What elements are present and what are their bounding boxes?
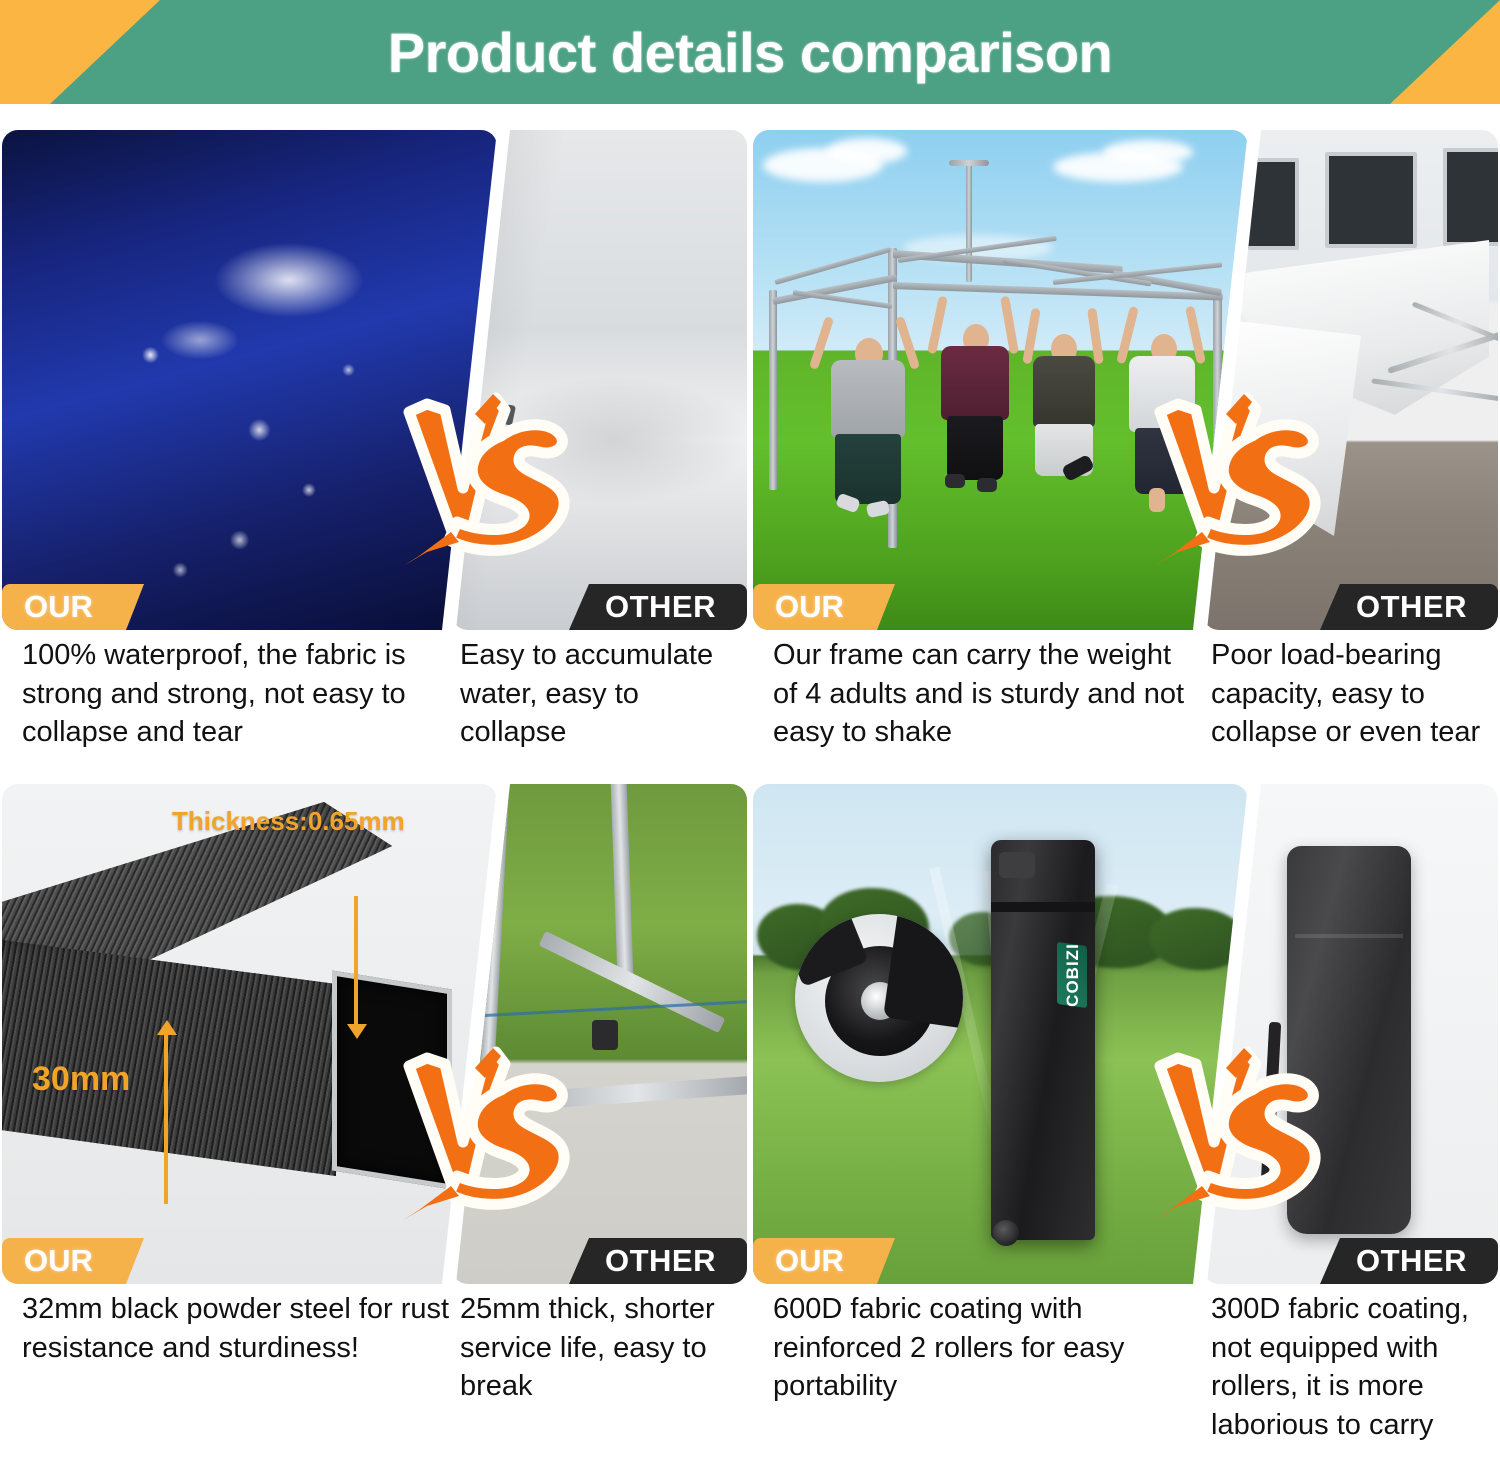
- page-header: Product details comparison: [0, 0, 1500, 104]
- wheel-detail-inset: [795, 914, 963, 1082]
- image-pair: Thickness:0.65mm 30mm OUR OTHER: [2, 784, 747, 1284]
- image-pair: OUR OTHER: [753, 130, 1498, 630]
- our-image-waterproof: OUR: [2, 130, 497, 630]
- our-badge: OUR: [2, 1238, 144, 1284]
- other-image-collapsed-canopy: OTHER: [1203, 130, 1498, 630]
- other-caption: 300D fabric coating, not equipped with r…: [1211, 1290, 1500, 1444]
- our-caption: 32mm black powder steel for rust resista…: [22, 1290, 452, 1367]
- image-pair: OUR OTHER: [2, 130, 747, 630]
- image-pair: COBIZI OUR OTHER: [753, 784, 1498, 1284]
- page-title: Product details comparison: [0, 0, 1500, 104]
- other-caption: 25mm thick, shorter service life, easy t…: [460, 1290, 750, 1406]
- captions: 100% waterproof, the fabric is strong an…: [2, 636, 747, 802]
- captions: Our frame can carry the weight of 4 adul…: [753, 636, 1498, 802]
- other-caption: Easy to accumulate water, easy to collap…: [460, 636, 750, 752]
- other-image-thin-pole: OTHER: [452, 784, 747, 1284]
- brand-logo: COBIZI: [1058, 935, 1088, 1015]
- our-image-steel-tube: Thickness:0.65mm 30mm OUR: [2, 784, 497, 1284]
- panel-steel-tube: Thickness:0.65mm 30mm OUR OTHER: [2, 784, 747, 1456]
- other-image-plain-bag: OTHER: [1203, 784, 1498, 1284]
- comparison-grid: OUR OTHER 100%: [0, 104, 1500, 1475]
- our-image-rolling-bag: COBIZI OUR: [753, 784, 1248, 1284]
- panel-carry-bag: COBIZI OUR OTHER: [753, 784, 1498, 1456]
- our-caption: Our frame can carry the weight of 4 adul…: [773, 636, 1203, 752]
- other-badge: OTHER: [1320, 1238, 1498, 1284]
- our-badge: OUR: [2, 584, 144, 630]
- other-badge: OTHER: [569, 1238, 747, 1284]
- captions: 32mm black powder steel for rust resista…: [2, 1290, 747, 1456]
- other-badge: OTHER: [569, 584, 747, 630]
- panel-waterproof: OUR OTHER 100%: [2, 130, 747, 802]
- width-annotation: 30mm: [32, 1060, 130, 1099]
- our-caption: 100% waterproof, the fabric is strong an…: [22, 636, 452, 752]
- our-badge: OUR: [753, 1238, 895, 1284]
- other-image-pooled-water: OTHER: [452, 130, 747, 630]
- other-badge: OTHER: [1320, 584, 1498, 630]
- thickness-annotation: Thickness:0.65mm: [172, 806, 405, 837]
- other-caption: Poor load-bearing capacity, easy to coll…: [1211, 636, 1500, 752]
- panel-load-bearing: OUR OTHER: [753, 130, 1498, 802]
- our-badge: OUR: [753, 584, 895, 630]
- captions: 600D fabric coating with reinforced 2 ro…: [753, 1290, 1498, 1456]
- our-image-four-adults: OUR: [753, 130, 1248, 630]
- our-caption: 600D fabric coating with reinforced 2 ro…: [773, 1290, 1203, 1406]
